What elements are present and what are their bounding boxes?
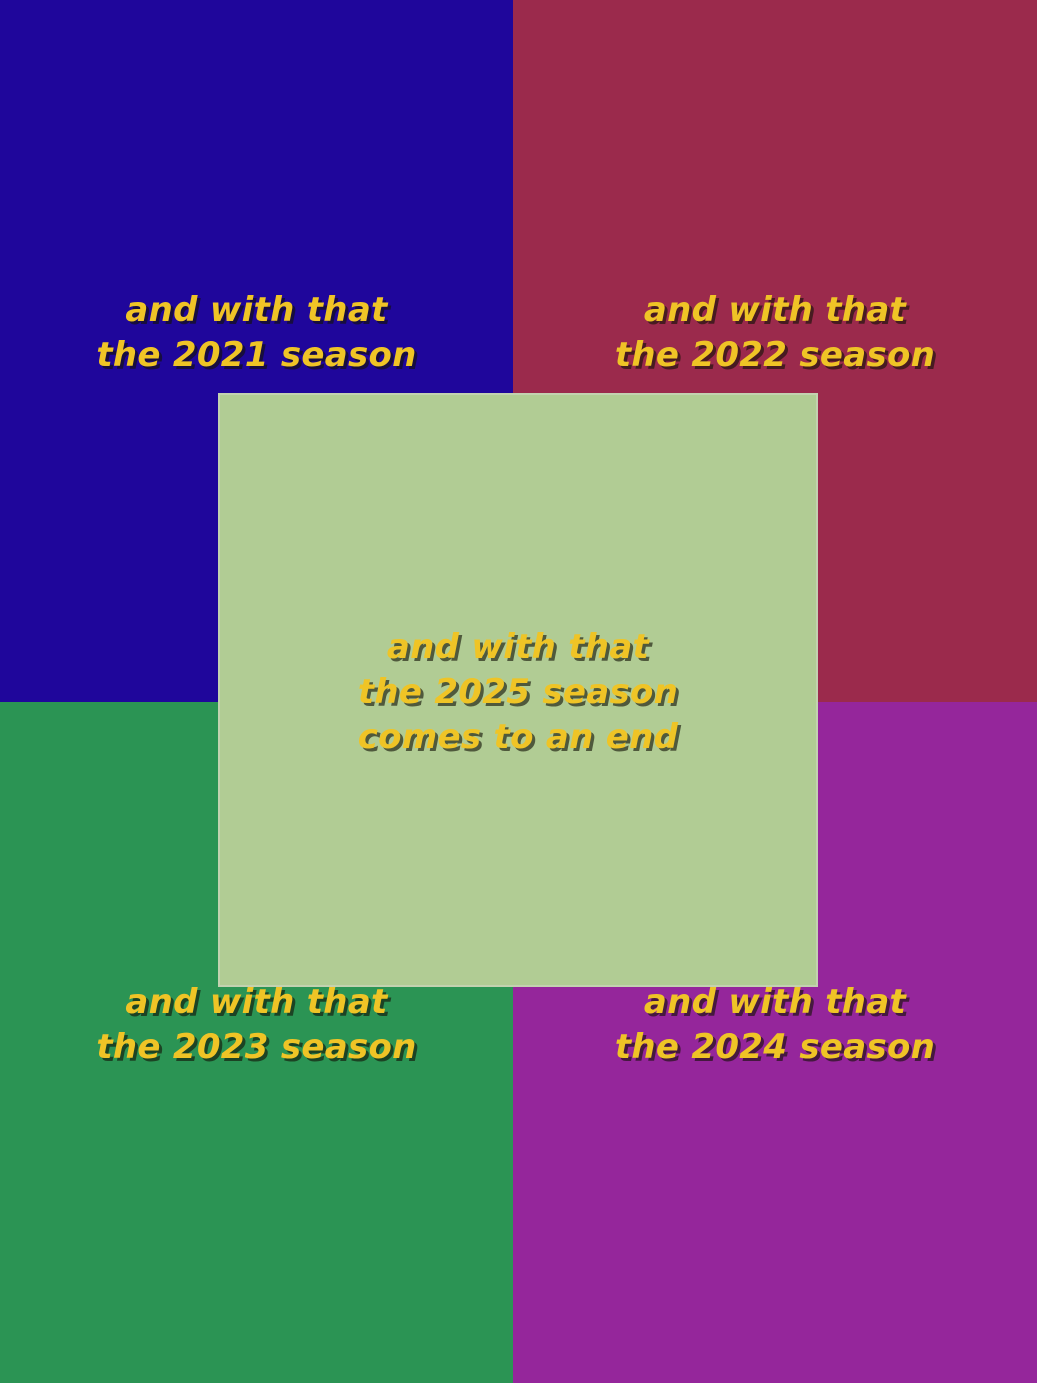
caption-line-3: comes to an end xyxy=(218,715,818,760)
season-2025-caption: and with that the 2025 season comes to a… xyxy=(218,625,818,760)
season-2022-caption: and with that the 2022 season xyxy=(513,288,1037,378)
caption-line-2: the 2024 season xyxy=(513,1025,1037,1070)
season-2021-caption: and with that the 2021 season xyxy=(0,288,513,378)
caption-line-2: the 2021 season xyxy=(0,333,513,378)
caption-line-1: and with that xyxy=(513,288,1037,333)
caption-line-1: and with that xyxy=(513,980,1037,1025)
caption-line-2: the 2023 season xyxy=(0,1025,513,1070)
season-2023-caption: and with that the 2023 season xyxy=(0,980,513,1070)
caption-line-1: and with that xyxy=(0,288,513,333)
caption-line-1: and with that xyxy=(218,625,818,670)
caption-line-1: and with that xyxy=(0,980,513,1025)
image-canvas: and with that the 2021 season and with t… xyxy=(0,0,1037,1383)
season-2024-caption: and with that the 2024 season xyxy=(513,980,1037,1070)
caption-line-2: the 2025 season xyxy=(218,670,818,715)
caption-line-2: the 2022 season xyxy=(513,333,1037,378)
